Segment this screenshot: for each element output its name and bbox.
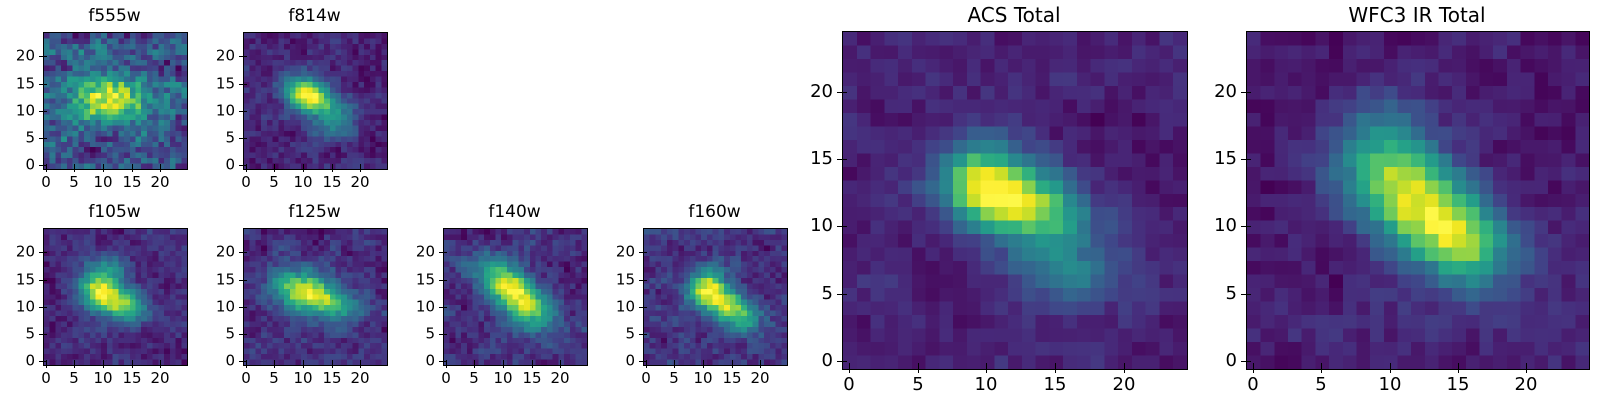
yticklabel-acs_total-3: 15 bbox=[782, 150, 833, 168]
xtick-inner-f160w-2 bbox=[703, 360, 704, 364]
heatmap-f814w bbox=[243, 32, 388, 170]
xtick-f814w-1 bbox=[274, 168, 275, 172]
xtick-inner-f125w-1 bbox=[274, 360, 275, 364]
yticklabel-acs_total-2: 10 bbox=[782, 217, 833, 235]
yticklabel-f555w-4: 20 bbox=[0, 49, 35, 64]
yticklabel-f105w-0: 0 bbox=[0, 354, 35, 369]
ytick-inner-wfc3_ir_total-0 bbox=[1246, 361, 1251, 362]
heatmap-canvas-f814w bbox=[244, 33, 387, 169]
ytick-inner-f105w-0 bbox=[43, 361, 47, 362]
xticklabel-f140w-3: 15 bbox=[522, 371, 541, 386]
xticklabel-f160w-2: 10 bbox=[693, 371, 712, 386]
xticklabel-f160w-3: 15 bbox=[722, 371, 741, 386]
xticklabel-f160w-1: 5 bbox=[669, 371, 679, 386]
heatmap-f555w bbox=[43, 32, 188, 170]
heatmap-canvas-f105w bbox=[44, 229, 187, 365]
xticklabel-f125w-0: 0 bbox=[241, 371, 251, 386]
heatmap-f105w bbox=[43, 228, 188, 366]
xtick-f814w-4 bbox=[360, 168, 361, 172]
heatmap-canvas-acs_total bbox=[843, 32, 1187, 369]
ytick-inner-f555w-4 bbox=[43, 56, 47, 57]
yticklabel-f125w-1: 5 bbox=[183, 327, 235, 342]
xtick-inner-acs_total-0 bbox=[849, 363, 850, 368]
yticklabel-wfc3_ir_total-3: 15 bbox=[1186, 150, 1237, 168]
xtick-f105w-2 bbox=[103, 364, 104, 368]
xticklabel-wfc3_ir_total-4: 20 bbox=[1515, 376, 1538, 394]
ytick-inner-f125w-1 bbox=[243, 334, 247, 335]
heatmap-canvas-f555w bbox=[44, 33, 187, 169]
ytick-inner-f125w-0 bbox=[243, 361, 247, 362]
ytick-inner-f105w-2 bbox=[43, 307, 47, 308]
xticklabel-f125w-1: 5 bbox=[269, 371, 279, 386]
xtick-inner-wfc3_ir_total-4 bbox=[1526, 363, 1527, 368]
yticklabel-wfc3_ir_total-4: 20 bbox=[1186, 83, 1237, 101]
xtick-f555w-4 bbox=[160, 168, 161, 172]
xtick-inner-f160w-4 bbox=[760, 360, 761, 364]
xticklabel-f814w-4: 20 bbox=[350, 175, 369, 190]
ytick-inner-f125w-2 bbox=[243, 307, 247, 308]
xticklabel-f125w-3: 15 bbox=[322, 371, 341, 386]
xtick-f125w-1 bbox=[274, 364, 275, 368]
xtick-inner-f105w-3 bbox=[132, 360, 133, 364]
yticklabel-f555w-2: 10 bbox=[0, 104, 35, 119]
panel-acs_total: ACS Total0510152005101520 bbox=[782, 3, 1246, 400]
ytick-inner-f814w-3 bbox=[243, 84, 247, 85]
xtick-acs_total-2 bbox=[986, 368, 987, 373]
heatmap-canvas-wfc3_ir_total bbox=[1247, 32, 1589, 369]
yticklabel-f140w-4: 20 bbox=[383, 245, 435, 260]
xtick-inner-f555w-3 bbox=[132, 164, 133, 168]
xtick-inner-f814w-2 bbox=[303, 164, 304, 168]
xtick-f140w-0 bbox=[446, 364, 447, 368]
xticklabel-wfc3_ir_total-0: 0 bbox=[1247, 376, 1258, 394]
xtick-inner-f140w-3 bbox=[532, 360, 533, 364]
xticklabel-acs_total-4: 20 bbox=[1113, 376, 1136, 394]
xticklabel-f814w-1: 5 bbox=[269, 175, 279, 190]
xticklabel-wfc3_ir_total-3: 15 bbox=[1447, 376, 1470, 394]
xtick-f105w-0 bbox=[46, 364, 47, 368]
heatmap-canvas-f140w bbox=[444, 229, 587, 365]
xtick-inner-f140w-4 bbox=[560, 360, 561, 364]
xtick-inner-wfc3_ir_total-0 bbox=[1253, 363, 1254, 368]
yticklabel-f105w-4: 20 bbox=[0, 245, 35, 260]
xticklabel-acs_total-2: 10 bbox=[975, 376, 998, 394]
ytick-inner-f160w-1 bbox=[643, 334, 647, 335]
xtick-inner-wfc3_ir_total-1 bbox=[1321, 363, 1322, 368]
yticklabel-f814w-0: 0 bbox=[183, 158, 235, 173]
xtick-f125w-2 bbox=[303, 364, 304, 368]
ytick-inner-f555w-2 bbox=[43, 111, 47, 112]
xtick-f125w-0 bbox=[246, 364, 247, 368]
yticklabel-f160w-0: 0 bbox=[583, 354, 635, 369]
yticklabel-f105w-1: 5 bbox=[0, 327, 35, 342]
xtick-f105w-3 bbox=[132, 364, 133, 368]
xtick-f125w-3 bbox=[332, 364, 333, 368]
yticklabel-acs_total-4: 20 bbox=[782, 83, 833, 101]
yticklabel-f105w-2: 10 bbox=[0, 300, 35, 315]
ytick-inner-acs_total-4 bbox=[842, 92, 847, 93]
xticklabel-f125w-2: 10 bbox=[293, 371, 312, 386]
xtick-inner-acs_total-3 bbox=[1055, 363, 1056, 368]
xticklabel-f555w-4: 20 bbox=[150, 175, 169, 190]
xtick-f105w-1 bbox=[74, 364, 75, 368]
yticklabel-f105w-3: 15 bbox=[0, 273, 35, 288]
yticklabel-f555w-0: 0 bbox=[0, 158, 35, 173]
xticklabel-f125w-4: 20 bbox=[350, 371, 369, 386]
yticklabel-f814w-2: 10 bbox=[183, 104, 235, 119]
ytick-inner-acs_total-0 bbox=[842, 361, 847, 362]
yticklabel-f125w-3: 15 bbox=[183, 273, 235, 288]
panel-f814w: f814w0510152005101520 bbox=[183, 4, 446, 200]
yticklabel-acs_total-0: 0 bbox=[782, 352, 833, 370]
xticklabel-f140w-0: 0 bbox=[441, 371, 451, 386]
xtick-inner-acs_total-4 bbox=[1124, 363, 1125, 368]
xticklabel-f814w-0: 0 bbox=[241, 175, 251, 190]
xtick-f140w-1 bbox=[474, 364, 475, 368]
xtick-f160w-3 bbox=[732, 364, 733, 368]
yticklabel-f160w-3: 15 bbox=[583, 273, 635, 288]
ytick-inner-f105w-4 bbox=[43, 252, 47, 253]
xtick-inner-f105w-4 bbox=[160, 360, 161, 364]
ytick-inner-f140w-1 bbox=[443, 334, 447, 335]
xtick-wfc3_ir_total-4 bbox=[1526, 368, 1527, 373]
xtick-inner-f125w-2 bbox=[303, 360, 304, 364]
ytick-inner-f140w-2 bbox=[443, 307, 447, 308]
xticklabel-acs_total-1: 5 bbox=[912, 376, 923, 394]
xtick-f814w-0 bbox=[246, 168, 247, 172]
xticklabel-f814w-3: 15 bbox=[322, 175, 341, 190]
panel-title-wfc3_ir_total: WFC3 IR Total bbox=[1186, 5, 1600, 25]
heatmap-f140w bbox=[443, 228, 588, 366]
xtick-inner-f140w-1 bbox=[474, 360, 475, 364]
yticklabel-f125w-4: 20 bbox=[183, 245, 235, 260]
ytick-inner-wfc3_ir_total-3 bbox=[1246, 159, 1251, 160]
ytick-inner-f160w-0 bbox=[643, 361, 647, 362]
xticklabel-wfc3_ir_total-1: 5 bbox=[1315, 376, 1326, 394]
heatmap-canvas-f160w bbox=[644, 229, 787, 365]
xticklabel-acs_total-0: 0 bbox=[843, 376, 854, 394]
xtick-f555w-2 bbox=[103, 168, 104, 172]
xtick-inner-f555w-4 bbox=[160, 164, 161, 168]
xtick-inner-f814w-1 bbox=[274, 164, 275, 168]
xtick-acs_total-4 bbox=[1124, 368, 1125, 373]
xtick-f814w-3 bbox=[332, 168, 333, 172]
xtick-f555w-1 bbox=[74, 168, 75, 172]
ytick-inner-f105w-3 bbox=[43, 280, 47, 281]
yticklabel-f125w-0: 0 bbox=[183, 354, 235, 369]
xticklabel-f160w-0: 0 bbox=[641, 371, 651, 386]
ytick-inner-f160w-2 bbox=[643, 307, 647, 308]
xtick-inner-f555w-2 bbox=[103, 164, 104, 168]
xtick-wfc3_ir_total-1 bbox=[1321, 368, 1322, 373]
xtick-inner-f125w-4 bbox=[360, 360, 361, 364]
ytick-inner-wfc3_ir_total-2 bbox=[1246, 226, 1251, 227]
ytick-inner-f814w-1 bbox=[243, 138, 247, 139]
xticklabel-f140w-2: 10 bbox=[493, 371, 512, 386]
xticklabel-f105w-3: 15 bbox=[122, 371, 141, 386]
xtick-wfc3_ir_total-0 bbox=[1253, 368, 1254, 373]
panel-wfc3_ir_total: WFC3 IR Total0510152005101520 bbox=[1186, 3, 1600, 400]
xtick-f555w-0 bbox=[46, 168, 47, 172]
xtick-inner-acs_total-1 bbox=[918, 363, 919, 368]
xticklabel-f105w-2: 10 bbox=[93, 371, 112, 386]
xtick-f140w-3 bbox=[532, 364, 533, 368]
xtick-f555w-3 bbox=[132, 168, 133, 172]
xtick-f160w-2 bbox=[703, 364, 704, 368]
xtick-f140w-2 bbox=[503, 364, 504, 368]
xtick-wfc3_ir_total-2 bbox=[1390, 368, 1391, 373]
yticklabel-f160w-4: 20 bbox=[583, 245, 635, 260]
xtick-inner-f160w-3 bbox=[732, 360, 733, 364]
panel-title-acs_total: ACS Total bbox=[782, 5, 1246, 25]
ytick-inner-acs_total-2 bbox=[842, 226, 847, 227]
ytick-inner-f125w-4 bbox=[243, 252, 247, 253]
ytick-inner-f555w-1 bbox=[43, 138, 47, 139]
xtick-f160w-0 bbox=[646, 364, 647, 368]
xtick-inner-f140w-2 bbox=[503, 360, 504, 364]
yticklabel-wfc3_ir_total-1: 5 bbox=[1186, 285, 1237, 303]
yticklabel-f160w-1: 5 bbox=[583, 327, 635, 342]
ytick-inner-f140w-0 bbox=[443, 361, 447, 362]
heatmap-canvas-f125w bbox=[244, 229, 387, 365]
xticklabel-f814w-2: 10 bbox=[293, 175, 312, 190]
xtick-inner-f160w-1 bbox=[674, 360, 675, 364]
heatmap-f160w bbox=[643, 228, 788, 366]
yticklabel-f140w-2: 10 bbox=[383, 300, 435, 315]
ytick-inner-wfc3_ir_total-1 bbox=[1246, 294, 1251, 295]
heatmap-f125w bbox=[243, 228, 388, 366]
xticklabel-f555w-1: 5 bbox=[69, 175, 79, 190]
ytick-inner-f555w-0 bbox=[43, 165, 47, 166]
xticklabel-f140w-1: 5 bbox=[469, 371, 479, 386]
xtick-acs_total-1 bbox=[918, 368, 919, 373]
yticklabel-f814w-4: 20 bbox=[183, 49, 235, 64]
xticklabel-f555w-3: 15 bbox=[122, 175, 141, 190]
yticklabel-f814w-3: 15 bbox=[183, 77, 235, 92]
xtick-wfc3_ir_total-3 bbox=[1458, 368, 1459, 373]
xticklabel-f160w-4: 20 bbox=[750, 371, 769, 386]
yticklabel-f140w-0: 0 bbox=[383, 354, 435, 369]
xtick-f160w-4 bbox=[760, 364, 761, 368]
xtick-f814w-2 bbox=[303, 168, 304, 172]
panel-title-f814w: f814w bbox=[183, 8, 446, 25]
ytick-inner-f814w-0 bbox=[243, 165, 247, 166]
heatmap-wfc3_ir_total bbox=[1246, 31, 1590, 370]
ytick-inner-f140w-3 bbox=[443, 280, 447, 281]
xtick-f140w-4 bbox=[560, 364, 561, 368]
xticklabel-f105w-1: 5 bbox=[69, 371, 79, 386]
ytick-inner-f555w-3 bbox=[43, 84, 47, 85]
xtick-inner-wfc3_ir_total-3 bbox=[1458, 363, 1459, 368]
xtick-inner-f555w-1 bbox=[74, 164, 75, 168]
xtick-f125w-4 bbox=[360, 364, 361, 368]
yticklabel-wfc3_ir_total-0: 0 bbox=[1186, 352, 1237, 370]
yticklabel-f125w-2: 10 bbox=[183, 300, 235, 315]
xticklabel-acs_total-3: 15 bbox=[1044, 376, 1067, 394]
ytick-inner-f160w-4 bbox=[643, 252, 647, 253]
xtick-inner-f105w-2 bbox=[103, 360, 104, 364]
xtick-inner-f814w-3 bbox=[332, 164, 333, 168]
yticklabel-f555w-3: 15 bbox=[0, 77, 35, 92]
ytick-inner-f140w-4 bbox=[443, 252, 447, 253]
yticklabel-f160w-2: 10 bbox=[583, 300, 635, 315]
yticklabel-wfc3_ir_total-2: 10 bbox=[1186, 217, 1237, 235]
xtick-inner-f125w-3 bbox=[332, 360, 333, 364]
xtick-inner-acs_total-2 bbox=[986, 363, 987, 368]
xticklabel-f105w-0: 0 bbox=[41, 371, 51, 386]
ytick-inner-f125w-3 bbox=[243, 280, 247, 281]
ytick-inner-f105w-1 bbox=[43, 334, 47, 335]
ytick-inner-acs_total-3 bbox=[842, 159, 847, 160]
xticklabel-f555w-0: 0 bbox=[41, 175, 51, 190]
ytick-inner-f814w-2 bbox=[243, 111, 247, 112]
ytick-inner-wfc3_ir_total-4 bbox=[1246, 92, 1251, 93]
xticklabel-f140w-4: 20 bbox=[550, 371, 569, 386]
ytick-inner-f814w-4 bbox=[243, 56, 247, 57]
ytick-inner-f160w-3 bbox=[643, 280, 647, 281]
xtick-acs_total-3 bbox=[1055, 368, 1056, 373]
heatmap-acs_total bbox=[842, 31, 1188, 370]
ytick-inner-acs_total-1 bbox=[842, 294, 847, 295]
xticklabel-f555w-2: 10 bbox=[93, 175, 112, 190]
xtick-f160w-1 bbox=[674, 364, 675, 368]
yticklabel-f814w-1: 5 bbox=[183, 131, 235, 146]
yticklabel-acs_total-1: 5 bbox=[782, 285, 833, 303]
figure-canvas: f555w0510152005101520f814w05101520051015… bbox=[0, 0, 1600, 400]
xtick-inner-f814w-4 bbox=[360, 164, 361, 168]
xticklabel-f105w-4: 20 bbox=[150, 371, 169, 386]
yticklabel-f140w-1: 5 bbox=[383, 327, 435, 342]
xticklabel-wfc3_ir_total-2: 10 bbox=[1379, 376, 1402, 394]
yticklabel-f555w-1: 5 bbox=[0, 131, 35, 146]
yticklabel-f140w-3: 15 bbox=[383, 273, 435, 288]
xtick-f105w-4 bbox=[160, 364, 161, 368]
xtick-inner-wfc3_ir_total-2 bbox=[1390, 363, 1391, 368]
xtick-acs_total-0 bbox=[849, 368, 850, 373]
xtick-inner-f105w-1 bbox=[74, 360, 75, 364]
